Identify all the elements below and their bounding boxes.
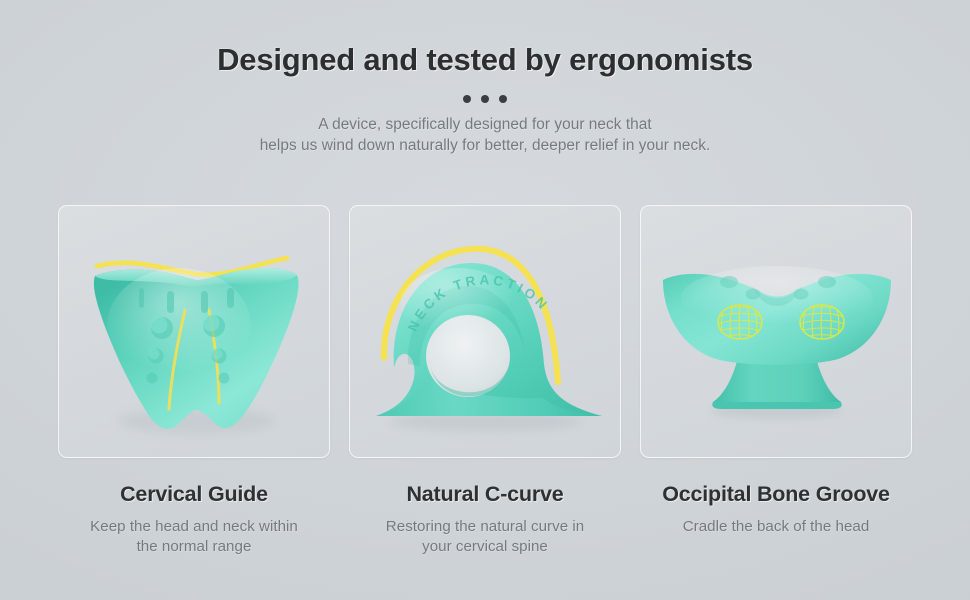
feature-title-cervical-guide: Cervical Guide	[58, 482, 330, 507]
header-section: Designed and tested by ergonomists A dev…	[0, 0, 970, 156]
illustration-panel-cervical-guide	[58, 205, 330, 458]
feature-desc-line-1: Restoring the natural curve in	[349, 517, 621, 537]
wave-shaped-neck-traction-icon: NECK TRACTION	[350, 206, 621, 458]
feature-title-occipital-bone-groove: Occipital Bone Groove	[640, 482, 912, 507]
page-subtitle: A device, specifically designed for your…	[0, 114, 970, 156]
butterfly-shaped-cervical-guide-icon	[59, 206, 330, 458]
feature-panels-row: Cervical Guide Keep the head and neck wi…	[58, 205, 912, 557]
feature-desc-line-2: the normal range	[58, 537, 330, 557]
cradle-shaped-occipital-groove-icon	[641, 206, 912, 458]
feature-title-natural-c-curve: Natural C-curve	[349, 482, 621, 507]
divider-dot	[463, 95, 471, 103]
feature-card-natural-c-curve: NECK TRACTION Natural C-curve Restoring …	[349, 205, 621, 557]
divider-dot	[481, 95, 489, 103]
three-dots-divider-icon	[463, 95, 507, 103]
divider-dot	[499, 95, 507, 103]
feature-description-natural-c-curve: Restoring the natural curve in your cerv…	[349, 517, 621, 557]
page-title: Designed and tested by ergonomists	[0, 0, 970, 78]
feature-desc-line-1: Keep the head and neck within	[58, 517, 330, 537]
feature-description-cervical-guide: Keep the head and neck within the normal…	[58, 517, 330, 557]
feature-desc-line-1: Cradle the back of the head	[640, 517, 912, 537]
feature-card-cervical-guide: Cervical Guide Keep the head and neck wi…	[58, 205, 330, 557]
feature-card-occipital-bone-groove: Occipital Bone Groove Cradle the back of…	[640, 205, 912, 557]
illustration-panel-natural-c-curve: NECK TRACTION	[349, 205, 621, 458]
subtitle-line-1: A device, specifically designed for your…	[0, 114, 970, 135]
subtitle-line-2: helps us wind down naturally for better,…	[0, 135, 970, 156]
product-feature-banner: Designed and tested by ergonomists A dev…	[0, 0, 970, 600]
illustration-panel-occipital-bone-groove	[640, 205, 912, 458]
feature-desc-line-2: your cervical spine	[349, 537, 621, 557]
feature-description-occipital-bone-groove: Cradle the back of the head	[640, 517, 912, 537]
